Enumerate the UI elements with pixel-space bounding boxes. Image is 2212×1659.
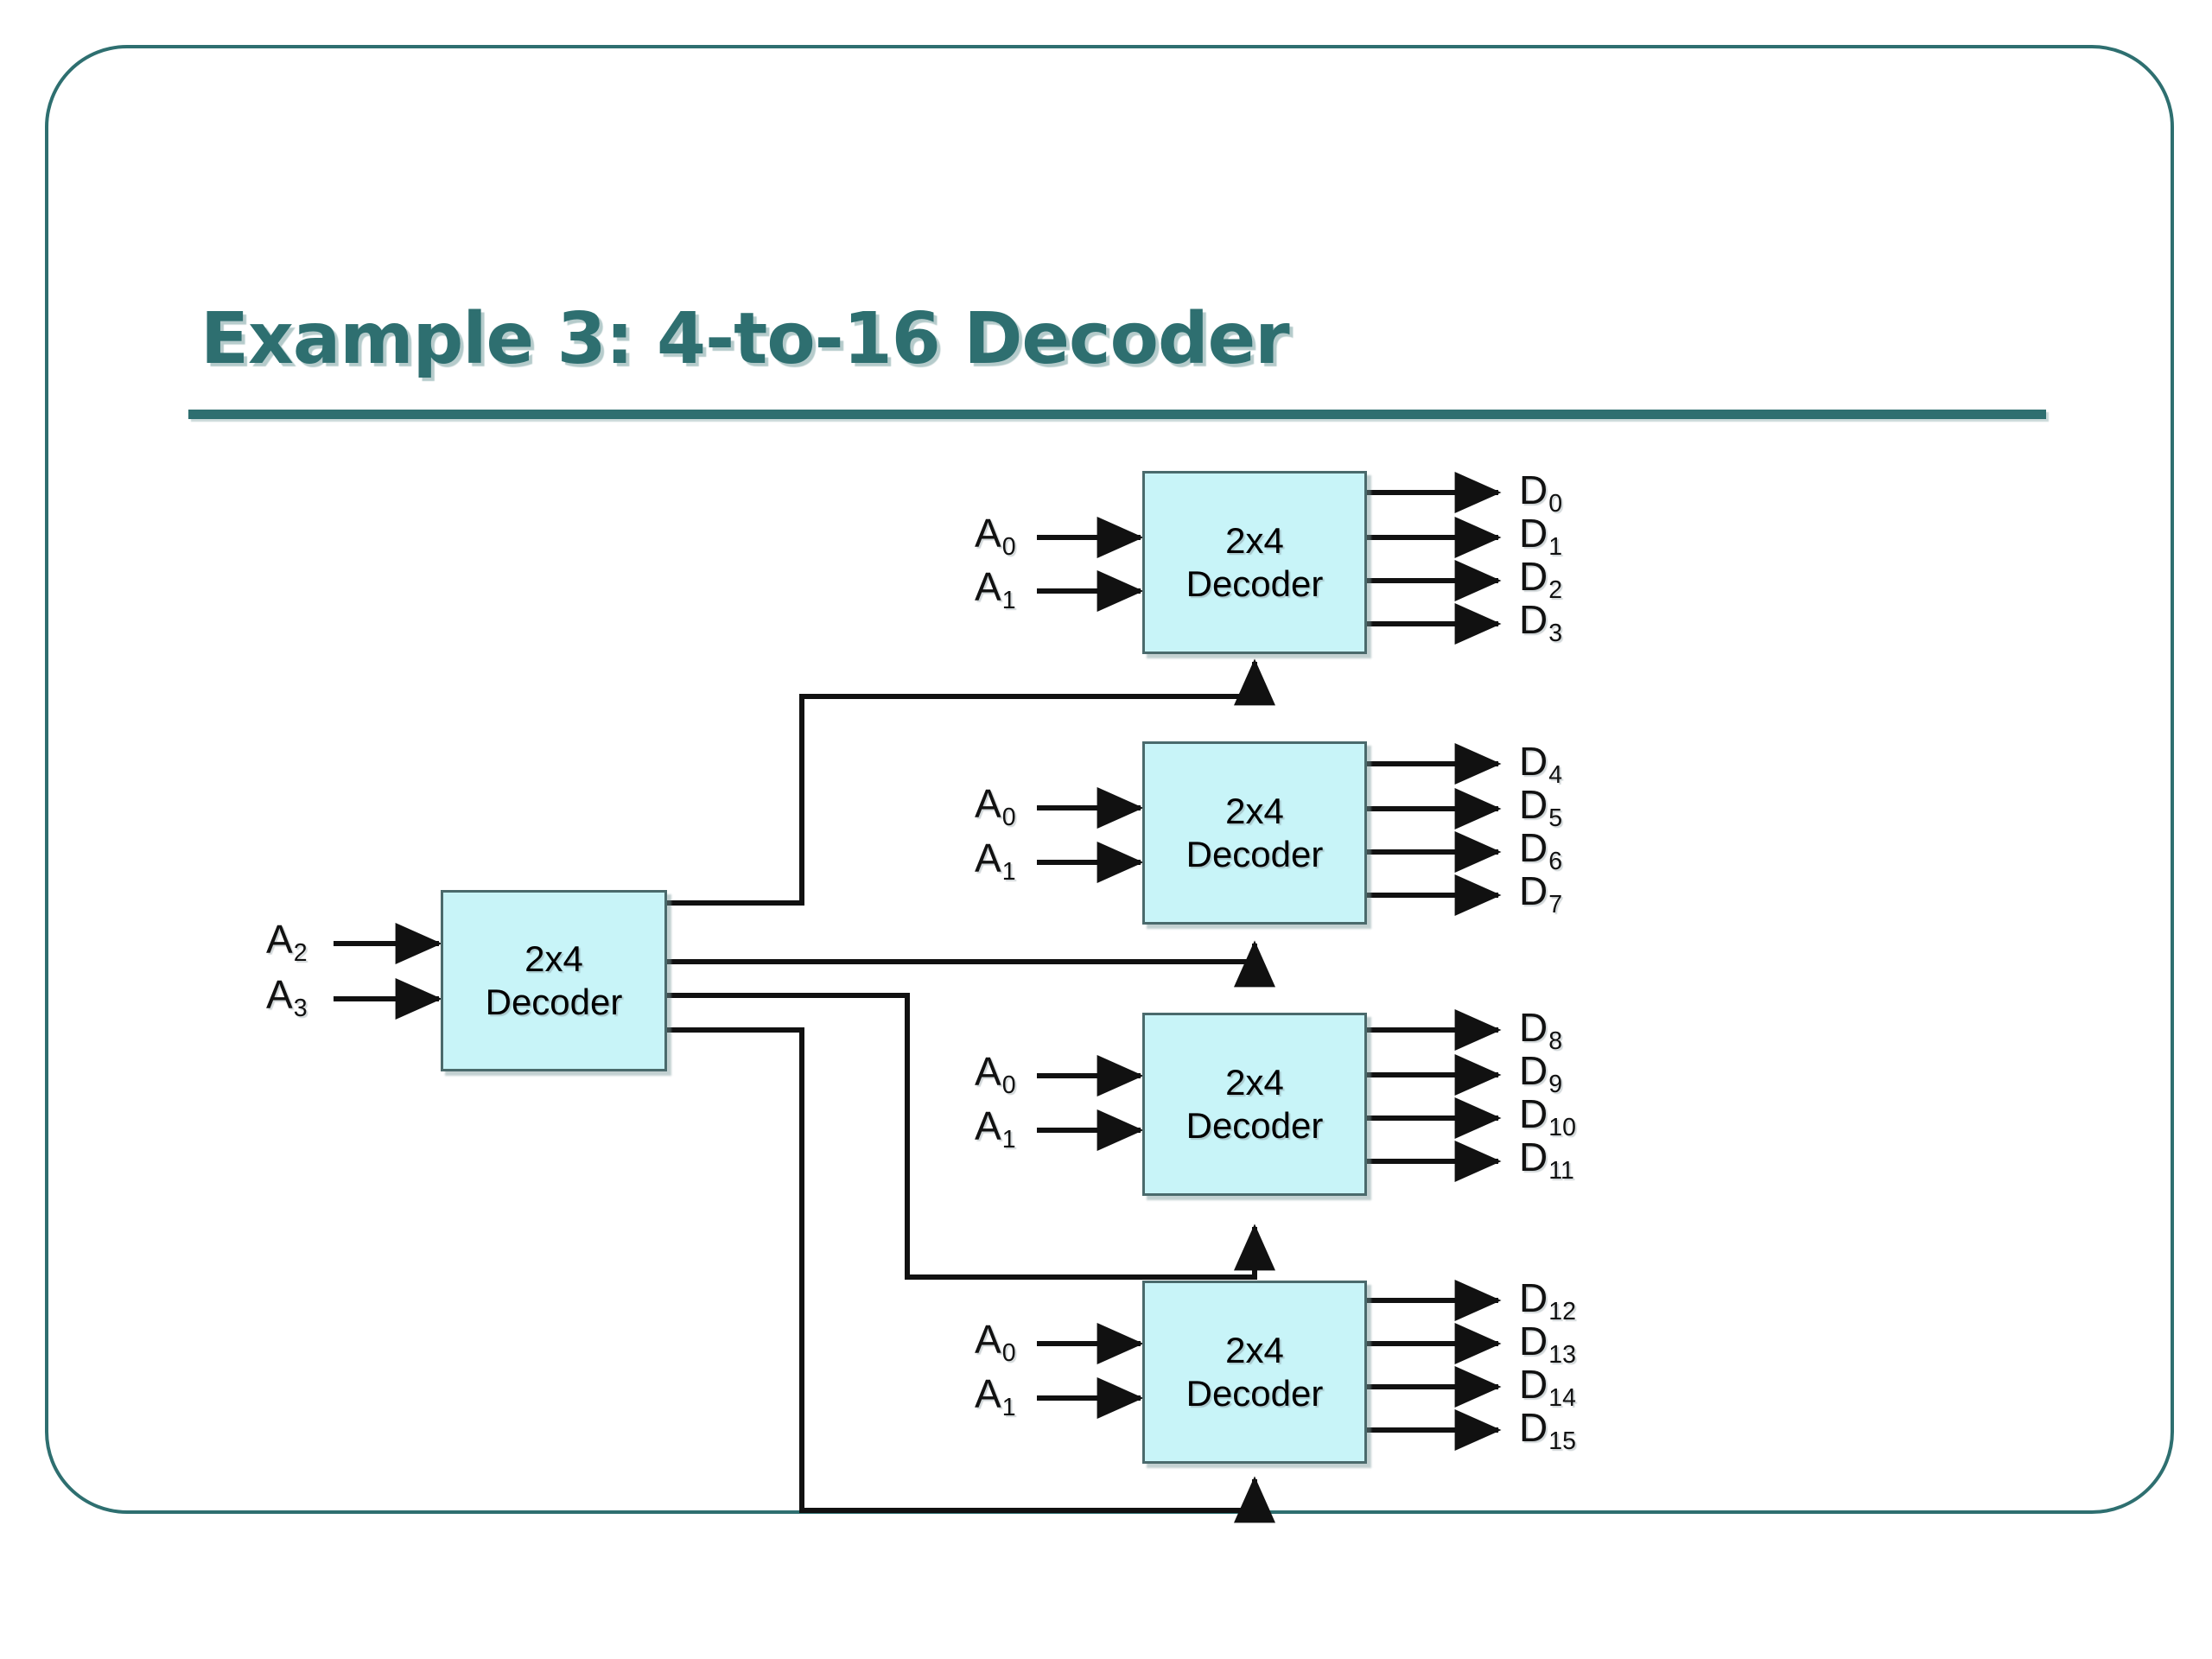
wiring-layer bbox=[0, 0, 2212, 1659]
slide-canvas: Example 3: 4-to-16 Decoder bbox=[0, 0, 2212, 1659]
dec3-input-label-a1-base: A bbox=[975, 1103, 1001, 1148]
output-label-d2-base: D bbox=[1519, 554, 1548, 599]
output-label-d1-base: D bbox=[1519, 511, 1548, 556]
decoder-block-3[interactable]: 2x4 Decoder bbox=[1142, 1013, 1367, 1196]
output-label-d7-base: D bbox=[1519, 868, 1548, 913]
output-label-d8-base: D bbox=[1519, 1005, 1548, 1050]
decoder-block-2[interactable]: 2x4 Decoder bbox=[1142, 741, 1367, 925]
dec4-input-label-a1: A1 bbox=[975, 1370, 1016, 1417]
output-label-d14-base: D bbox=[1519, 1362, 1548, 1407]
decoder-3-line2: Decoder bbox=[1186, 1104, 1324, 1147]
output-label-d3: D3 bbox=[1519, 596, 1562, 643]
dec4-input-label-a1-sub: 1 bbox=[1002, 1394, 1016, 1421]
output-label-d4-base: D bbox=[1519, 739, 1548, 784]
dec3-input-label-a1: A1 bbox=[975, 1103, 1016, 1149]
output-label-d15-sub: 15 bbox=[1548, 1427, 1576, 1455]
dec3-input-label-a0-base: A bbox=[975, 1049, 1001, 1094]
decoder-3-line1: 2x4 bbox=[1225, 1061, 1284, 1104]
input-label-a2-sub: 2 bbox=[294, 939, 308, 967]
decoder-4-line2: Decoder bbox=[1186, 1372, 1324, 1415]
input-label-a3: A3 bbox=[266, 971, 308, 1018]
dec1-input-label-a1-base: A bbox=[975, 564, 1001, 609]
dec3-input-label-a0: A0 bbox=[975, 1048, 1016, 1095]
output-label-d13-base: D bbox=[1519, 1319, 1548, 1363]
output-label-d4: D4 bbox=[1519, 738, 1562, 785]
decoder-diagram: 2x4 Decoder 2x4 Decoder 2x4 Decoder 2x4 … bbox=[0, 0, 2212, 1659]
output-label-d12-base: D bbox=[1519, 1275, 1548, 1320]
dec4-input-label-a0: A0 bbox=[975, 1316, 1016, 1363]
output-label-d10-base: D bbox=[1519, 1091, 1548, 1136]
dec1-input-label-a0-base: A bbox=[975, 511, 1001, 556]
dec1-input-label-a0: A0 bbox=[975, 510, 1016, 556]
decoder-block-main[interactable]: 2x4 Decoder bbox=[441, 890, 667, 1071]
output-label-d6-base: D bbox=[1519, 825, 1548, 870]
dec1-input-label-a1: A1 bbox=[975, 563, 1016, 610]
decoder-1-line2: Decoder bbox=[1186, 563, 1324, 606]
output-label-d5-base: D bbox=[1519, 782, 1548, 827]
dec4-input-label-a0-base: A bbox=[975, 1317, 1001, 1362]
output-label-d1: D1 bbox=[1519, 510, 1562, 556]
dec2-input-label-a1-sub: 1 bbox=[1002, 858, 1016, 886]
decoder-2-line2: Decoder bbox=[1186, 833, 1324, 876]
output-label-d2: D2 bbox=[1519, 553, 1562, 600]
output-label-d6: D6 bbox=[1519, 824, 1562, 871]
dec2-input-label-a0: A0 bbox=[975, 780, 1016, 827]
output-label-d12: D12 bbox=[1519, 1274, 1576, 1321]
dec3-input-label-a0-sub: 0 bbox=[1002, 1071, 1016, 1099]
input-label-a2-base: A bbox=[266, 917, 293, 962]
output-label-d15-base: D bbox=[1519, 1405, 1548, 1450]
output-label-d11-base: D bbox=[1519, 1135, 1548, 1179]
dec2-input-label-a1: A1 bbox=[975, 835, 1016, 881]
input-label-a3-base: A bbox=[266, 972, 293, 1017]
dec1-input-label-a1-sub: 1 bbox=[1002, 587, 1016, 614]
decoder-block-1[interactable]: 2x4 Decoder bbox=[1142, 471, 1367, 654]
decoder-2-line1: 2x4 bbox=[1225, 790, 1284, 833]
output-label-d0-base: D bbox=[1519, 467, 1548, 512]
output-label-d5: D5 bbox=[1519, 781, 1562, 828]
dec2-input-label-a0-sub: 0 bbox=[1002, 804, 1016, 831]
dec1-input-label-a0-sub: 0 bbox=[1002, 533, 1016, 561]
decoder-main-line2: Decoder bbox=[486, 981, 623, 1024]
dec4-input-label-a0-sub: 0 bbox=[1002, 1339, 1016, 1367]
output-label-d3-sub: 3 bbox=[1548, 620, 1562, 647]
decoder-1-line1: 2x4 bbox=[1225, 519, 1284, 563]
output-label-d13: D13 bbox=[1519, 1318, 1576, 1364]
output-label-d11: D11 bbox=[1519, 1134, 1574, 1180]
output-label-d3-base: D bbox=[1519, 597, 1548, 642]
output-label-d9: D9 bbox=[1519, 1047, 1562, 1094]
decoder-main-line1: 2x4 bbox=[524, 938, 583, 981]
wire-main-out1-to-dec2-enable bbox=[667, 944, 1255, 962]
dec4-input-label-a1-base: A bbox=[975, 1371, 1001, 1416]
output-label-d11-sub: 11 bbox=[1548, 1157, 1574, 1185]
output-label-d15: D15 bbox=[1519, 1404, 1576, 1451]
output-label-d10: D10 bbox=[1519, 1090, 1576, 1137]
decoder-block-4[interactable]: 2x4 Decoder bbox=[1142, 1281, 1367, 1464]
dec3-input-label-a1-sub: 1 bbox=[1002, 1126, 1016, 1154]
output-label-d14: D14 bbox=[1519, 1361, 1576, 1408]
output-label-d9-base: D bbox=[1519, 1048, 1548, 1093]
dec2-input-label-a1-base: A bbox=[975, 836, 1001, 880]
output-label-d7: D7 bbox=[1519, 868, 1562, 914]
input-label-a3-sub: 3 bbox=[294, 995, 308, 1022]
decoder-4-line1: 2x4 bbox=[1225, 1329, 1284, 1372]
input-label-a2: A2 bbox=[266, 916, 308, 963]
output-label-d7-sub: 7 bbox=[1548, 891, 1562, 918]
output-label-d8: D8 bbox=[1519, 1004, 1562, 1051]
dec2-input-label-a0-base: A bbox=[975, 781, 1001, 826]
output-label-d0: D0 bbox=[1519, 467, 1562, 513]
